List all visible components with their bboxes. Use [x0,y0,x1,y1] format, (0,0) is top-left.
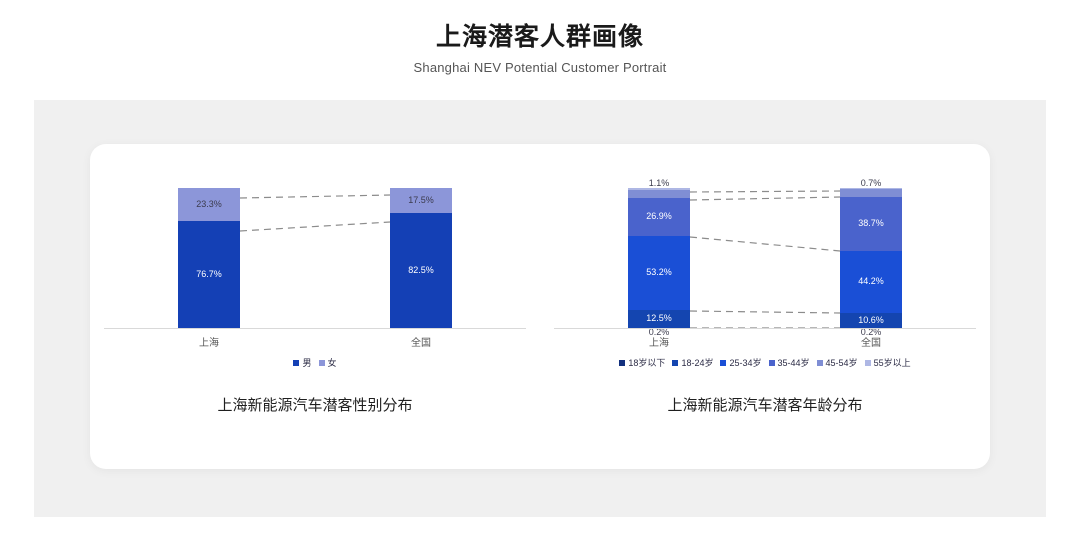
age-legend-label-45-54: 45-54岁 [826,356,858,369]
age-segment-55plus-national-label: 0.7% [861,179,882,188]
age-legend-swatch-35-44 [769,360,775,366]
age-connector-lines [540,188,990,328]
age-category-labels: 上海 全国 [540,334,990,348]
age-legend-label-25-34: 25-34岁 [729,356,761,369]
age-segment-25-34-shanghai-label: 53.2% [646,268,672,277]
age-chart-caption: 上海新能源汽车潜客年龄分布 [540,394,990,415]
gender-segment-female-national[interactable]: 17.5% [390,188,452,213]
gender-segment-female-shanghai-label: 23.3% [196,200,222,209]
age-segment-18-24-shanghai-label: 12.5% [646,314,672,323]
age-segment-18-24-shanghai[interactable]: 12.5% [628,310,690,328]
age-legend-item-35-44[interactable]: 35-44岁 [769,356,810,369]
age-segment-25-34-national-label: 44.2% [858,277,884,286]
age-plot-area: 1.1% 6.1% 26.9% 53.2% 12.5% [540,188,990,328]
gender-chart-caption: 上海新能源汽车潜客性别分布 [90,394,540,415]
gender-chart: 23.3% 76.7% 17.5% 82.5% [90,144,540,469]
age-segment-35-44-shanghai[interactable]: 26.9% [628,198,690,236]
age-segment-35-44-shanghai-label: 26.9% [646,212,672,221]
gender-segment-female-shanghai[interactable]: 23.3% [178,188,240,221]
age-legend-item-55plus[interactable]: 55岁以上 [865,356,911,369]
gender-axis-line [104,328,526,329]
age-legend-label-55plus: 55岁以上 [874,356,911,369]
age-segment-45-54-shanghai[interactable]: 6.1% [628,190,690,199]
gender-legend-swatch-male [293,360,299,366]
gender-category-shanghai: 上海 [169,334,249,349]
gender-bar-shanghai[interactable]: 23.3% 76.7% [178,188,240,328]
gender-category-labels: 上海 全国 [90,334,540,348]
charts-row: 23.3% 76.7% 17.5% 82.5% [90,144,990,469]
content-panel: 23.3% 76.7% 17.5% 82.5% [34,100,1046,517]
age-segment-25-34-shanghai[interactable]: 53.2% [628,236,690,310]
gender-segment-male-shanghai-label: 76.7% [196,270,222,279]
age-legend-item-18-24[interactable]: 18-24岁 [672,356,713,369]
age-segment-35-44-national-label: 38.7% [858,219,884,228]
age-legend-swatch-18-24 [672,360,678,366]
age-category-shanghai: 上海 [619,334,699,349]
gender-legend-item-female[interactable]: 女 [319,356,337,369]
age-legend-item-45-54[interactable]: 45-54岁 [817,356,858,369]
gender-legend: 男 女 [90,356,540,369]
gender-category-national: 全国 [381,334,461,349]
age-legend-label-under18: 18岁以下 [628,356,665,369]
page-header: 上海潜客人群画像 Shanghai NEV Potential Customer… [0,0,1080,75]
age-legend-label-35-44: 35-44岁 [778,356,810,369]
age-legend-item-under18[interactable]: 18岁以下 [619,356,665,369]
age-segment-35-44-national[interactable]: 38.7% [840,197,902,251]
age-bar-national[interactable]: 0.7% 5.5% 38.7% 44.2% 10.6% [840,188,902,328]
age-bar-shanghai[interactable]: 1.1% 6.1% 26.9% 53.2% 12.5% [628,188,690,328]
age-legend-label-18-24: 18-24岁 [681,356,713,369]
gender-legend-item-male[interactable]: 男 [293,356,311,369]
page-subtitle: Shanghai NEV Potential Customer Portrait [0,60,1080,75]
age-segment-18-24-national-label: 10.6% [858,316,884,325]
gender-bar-national[interactable]: 17.5% 82.5% [390,188,452,328]
age-chart: 1.1% 6.1% 26.9% 53.2% 12.5% [540,144,990,469]
age-legend-swatch-55plus [865,360,871,366]
gender-legend-swatch-female [319,360,325,366]
charts-card: 23.3% 76.7% 17.5% 82.5% [90,144,990,469]
age-segment-18-24-national[interactable]: 10.6% [840,313,902,328]
gender-legend-label-male: 男 [302,356,311,369]
gender-plot-area: 23.3% 76.7% 17.5% 82.5% [90,188,540,328]
age-legend-swatch-25-34 [720,360,726,366]
age-segment-55plus-shanghai-label: 1.1% [649,179,670,188]
age-legend: 18岁以下 18-24岁 25-34岁 35-44岁 [540,356,990,369]
gender-segment-male-shanghai[interactable]: 76.7% [178,221,240,328]
gender-connector-lines [90,188,540,328]
gender-legend-label-female: 女 [328,356,337,369]
age-legend-swatch-under18 [619,360,625,366]
age-category-national: 全国 [831,334,911,349]
gender-segment-male-national[interactable]: 82.5% [390,213,452,329]
age-legend-swatch-45-54 [817,360,823,366]
gender-segment-male-national-label: 82.5% [408,266,434,275]
age-axis-line [554,328,976,329]
gender-segment-female-national-label: 17.5% [408,196,434,205]
age-segment-45-54-national[interactable]: 5.5% [840,189,902,197]
page-title: 上海潜客人群画像 [0,22,1080,53]
age-segment-25-34-national[interactable]: 44.2% [840,251,902,313]
age-legend-item-25-34[interactable]: 25-34岁 [720,356,761,369]
